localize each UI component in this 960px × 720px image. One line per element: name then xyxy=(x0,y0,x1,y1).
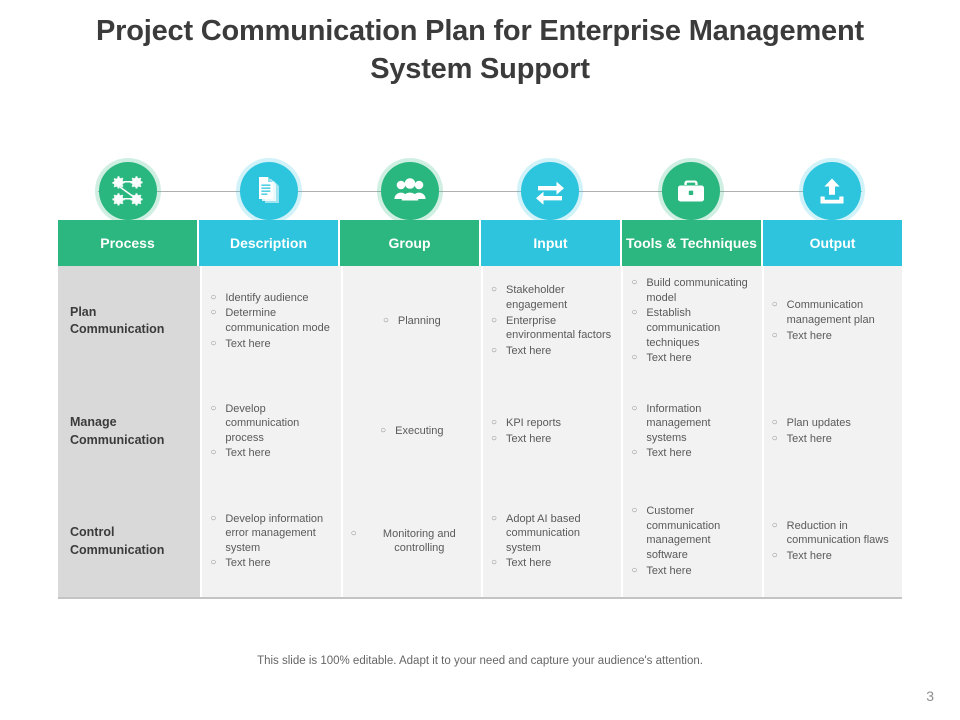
column-header-output: Output xyxy=(763,220,902,266)
bullet-marker-icon: ○ xyxy=(631,504,646,519)
bullet-list: ○Stakeholder engagement○Enterprise envir… xyxy=(491,283,613,359)
bullet-item: ○Text here xyxy=(772,432,894,447)
bullet-marker-icon: ○ xyxy=(491,432,506,447)
bullet-marker-icon: ○ xyxy=(491,344,506,359)
bullet-text: Adopt AI based communication system xyxy=(506,512,613,556)
bullet-list: ○KPI reports○Text here xyxy=(491,416,613,447)
slide-canvas: Project Communication Plan for Enterpris… xyxy=(0,0,960,720)
cell-input: ○Stakeholder engagement○Enterprise envir… xyxy=(483,266,621,377)
bullet-marker-icon: ○ xyxy=(631,564,646,579)
bullet-list: ○Reduction in communication flaws○Text h… xyxy=(772,519,894,565)
bullet-marker-icon: ○ xyxy=(380,424,395,439)
bullet-list: ○Customer communication management softw… xyxy=(631,504,753,579)
bullet-list: ○Executing xyxy=(380,424,443,440)
bullet-marker-icon: ○ xyxy=(631,276,646,291)
bullet-text: Identify audience xyxy=(225,291,332,306)
communication-plan-table: Process Description Group Input Tools & … xyxy=(58,220,902,599)
bullet-marker-icon: ○ xyxy=(631,402,646,417)
bullet-list: ○Communication management plan○Text here xyxy=(772,298,894,344)
cell-output: ○Reduction in communication flaws○Text h… xyxy=(764,487,902,597)
bullet-list: ○Adopt AI based communication system○Tex… xyxy=(491,512,613,573)
bullet-item: ○Stakeholder engagement xyxy=(491,283,613,312)
bullet-item: ○Executing xyxy=(380,424,443,439)
table-body: Plan Communication ○Identify audience○De… xyxy=(58,266,902,599)
bullet-marker-icon: ○ xyxy=(772,298,787,313)
bullet-marker-icon: ○ xyxy=(210,446,225,461)
table-row: Control Communication ○Develop informati… xyxy=(58,487,902,597)
cell-input: ○Adopt AI based communication system○Tex… xyxy=(483,487,621,597)
bullet-item: ○Text here xyxy=(491,432,613,447)
bullet-marker-icon: ○ xyxy=(772,329,787,344)
bullet-text: Planning xyxy=(398,314,441,329)
table-row: Plan Communication ○Identify audience○De… xyxy=(58,266,902,377)
bullet-marker-icon: ○ xyxy=(491,314,506,329)
bullet-text: Text here xyxy=(506,556,613,571)
bullet-item: ○Text here xyxy=(772,549,894,564)
icon-cell-group xyxy=(339,160,480,222)
bullet-list: ○Build communicating model○Establish com… xyxy=(631,276,753,367)
icon-cell-input xyxy=(480,160,621,222)
bullet-list: ○Plan updates○Text here xyxy=(772,416,894,447)
bullet-item: ○Text here xyxy=(631,564,753,579)
bullet-marker-icon: ○ xyxy=(210,556,225,571)
bullet-text: Text here xyxy=(646,351,753,366)
cell-tools: ○Build communicating model○Establish com… xyxy=(623,266,761,377)
column-header-group: Group xyxy=(340,220,479,266)
bullet-text: Information management systems xyxy=(646,402,753,446)
bullet-item: ○Identify audience xyxy=(210,291,332,306)
icon-row xyxy=(58,160,902,222)
bullet-marker-icon: ○ xyxy=(210,306,225,321)
bullet-text: Plan updates xyxy=(787,416,894,431)
cell-output: ○Communication management plan○Text here xyxy=(764,266,902,377)
exchange-arrows-icon[interactable] xyxy=(521,162,579,220)
bullet-text: Monitoring and controlling xyxy=(366,527,473,556)
process-gears-icon[interactable] xyxy=(99,162,157,220)
cell-tools: ○Information management systems○Text her… xyxy=(623,377,761,487)
bullet-item: ○Text here xyxy=(631,351,753,366)
bullet-item: ○Planning xyxy=(383,314,441,329)
bullet-list: ○Identify audience○Determine communicati… xyxy=(210,291,332,353)
bullet-marker-icon: ○ xyxy=(491,416,506,431)
bullet-text: Stakeholder engagement xyxy=(506,283,613,312)
bullet-text: Develop information error management sys… xyxy=(225,512,332,556)
bullet-item: ○Build communicating model xyxy=(631,276,753,305)
bullet-text: Reduction in communication flaws xyxy=(787,519,894,548)
bullet-text: Build communicating model xyxy=(646,276,753,305)
bullet-marker-icon: ○ xyxy=(351,527,366,542)
bullet-marker-icon: ○ xyxy=(631,306,646,321)
bullet-text: Establish communication techniques xyxy=(646,306,753,350)
bullet-item: ○Plan updates xyxy=(772,416,894,431)
icon-cell-process xyxy=(58,160,199,222)
bullet-item: ○Enterprise environmental factors xyxy=(491,314,613,343)
cell-description: ○Develop information error management sy… xyxy=(202,487,340,597)
process-icon-strip xyxy=(58,160,902,222)
bullet-text: Text here xyxy=(506,344,613,359)
column-header-input: Input xyxy=(481,220,620,266)
bullet-text: Text here xyxy=(225,337,332,352)
cell-tools: ○Customer communication management softw… xyxy=(623,487,761,597)
bullet-text: KPI reports xyxy=(506,416,613,431)
cell-group: ○Planning xyxy=(343,266,481,377)
bullet-text: Text here xyxy=(646,564,753,579)
bullet-text: Executing xyxy=(395,424,443,439)
cell-process: Control Communication xyxy=(58,487,200,597)
bullet-marker-icon: ○ xyxy=(210,337,225,352)
icon-cell-tools xyxy=(621,160,762,222)
footer-note: This slide is 100% editable. Adapt it to… xyxy=(0,655,960,667)
column-header-description: Description xyxy=(199,220,338,266)
bullet-item: ○Text here xyxy=(210,556,332,571)
cell-process: Plan Communication xyxy=(58,266,200,377)
bullet-item: ○Text here xyxy=(210,446,332,461)
bullet-marker-icon: ○ xyxy=(383,314,398,329)
bullet-text: Text here xyxy=(787,329,894,344)
bullet-item: ○Information management systems xyxy=(631,402,753,446)
icon-cell-output xyxy=(761,160,902,222)
bullet-item: ○Text here xyxy=(491,556,613,571)
bullet-item: ○Customer communication management softw… xyxy=(631,504,753,563)
bullet-text: Text here xyxy=(225,556,332,571)
bullet-marker-icon: ○ xyxy=(210,512,225,527)
bullet-text: Text here xyxy=(787,432,894,447)
icon-cell-description xyxy=(199,160,340,222)
bullet-list: ○Develop communication process○Text here xyxy=(210,402,332,463)
bullet-text: Text here xyxy=(787,549,894,564)
process-label: Control Communication xyxy=(70,524,192,560)
column-header-tools: Tools & Techniques xyxy=(622,220,761,266)
bullet-text: Customer communication management softwa… xyxy=(646,504,753,563)
process-label: Manage Communication xyxy=(70,414,192,450)
bullet-item: ○Determine communication mode xyxy=(210,306,332,335)
bullet-text: Text here xyxy=(225,446,332,461)
cell-output: ○Plan updates○Text here xyxy=(764,377,902,487)
upload-icon[interactable] xyxy=(803,162,861,220)
briefcase-icon[interactable] xyxy=(662,162,720,220)
page-number: 3 xyxy=(926,688,934,704)
bullet-item: ○Communication management plan xyxy=(772,298,894,327)
bullet-item: ○Monitoring and controlling xyxy=(351,527,473,556)
process-label: Plan Communication xyxy=(70,304,192,340)
bullet-marker-icon: ○ xyxy=(772,432,787,447)
bullet-item: ○Develop communication process xyxy=(210,402,332,446)
bullet-marker-icon: ○ xyxy=(772,416,787,431)
bullet-marker-icon: ○ xyxy=(631,351,646,366)
bullet-marker-icon: ○ xyxy=(491,556,506,571)
cell-description: ○Develop communication process○Text here xyxy=(202,377,340,487)
bullet-marker-icon: ○ xyxy=(491,283,506,298)
bullet-marker-icon: ○ xyxy=(772,549,787,564)
cell-group: ○Monitoring and controlling xyxy=(343,487,481,597)
bullet-marker-icon: ○ xyxy=(491,512,506,527)
table-header-row: Process Description Group Input Tools & … xyxy=(58,220,902,266)
documents-icon[interactable] xyxy=(240,162,298,220)
bullet-marker-icon: ○ xyxy=(772,519,787,534)
bullet-text: Text here xyxy=(646,446,753,461)
cell-process: Manage Communication xyxy=(58,377,200,487)
bullet-text: Develop communication process xyxy=(225,402,332,446)
cell-input: ○KPI reports○Text here xyxy=(483,377,621,487)
bullet-marker-icon: ○ xyxy=(210,291,225,306)
bullet-list: ○Monitoring and controlling xyxy=(351,527,473,557)
bullet-item: ○Reduction in communication flaws xyxy=(772,519,894,548)
bullet-item: ○Develop information error management sy… xyxy=(210,512,332,556)
bullet-list: ○Develop information error management sy… xyxy=(210,512,332,573)
bullet-item: ○Text here xyxy=(631,446,753,461)
bullet-list: ○Planning xyxy=(383,314,441,330)
bullet-item: ○Text here xyxy=(210,337,332,352)
bullet-text: Enterprise environmental factors xyxy=(506,314,613,343)
bullet-text: Text here xyxy=(506,432,613,447)
page-title: Project Communication Plan for Enterpris… xyxy=(80,12,880,89)
bullet-item: ○Text here xyxy=(491,344,613,359)
bullet-text: Determine communication mode xyxy=(225,306,332,335)
bullet-marker-icon: ○ xyxy=(210,402,225,417)
people-group-icon[interactable] xyxy=(381,162,439,220)
bullet-item: ○Adopt AI based communication system xyxy=(491,512,613,556)
cell-group: ○Executing xyxy=(343,377,481,487)
bullet-item: ○KPI reports xyxy=(491,416,613,431)
bullet-item: ○Text here xyxy=(772,329,894,344)
bullet-marker-icon: ○ xyxy=(631,446,646,461)
bullet-list: ○Information management systems○Text her… xyxy=(631,402,753,463)
bullet-item: ○Establish communication techniques xyxy=(631,306,753,350)
cell-description: ○Identify audience○Determine communicati… xyxy=(202,266,340,377)
bullet-text: Communication management plan xyxy=(787,298,894,327)
column-header-process: Process xyxy=(58,220,197,266)
table-row: Manage Communication ○Develop communicat… xyxy=(58,377,902,487)
